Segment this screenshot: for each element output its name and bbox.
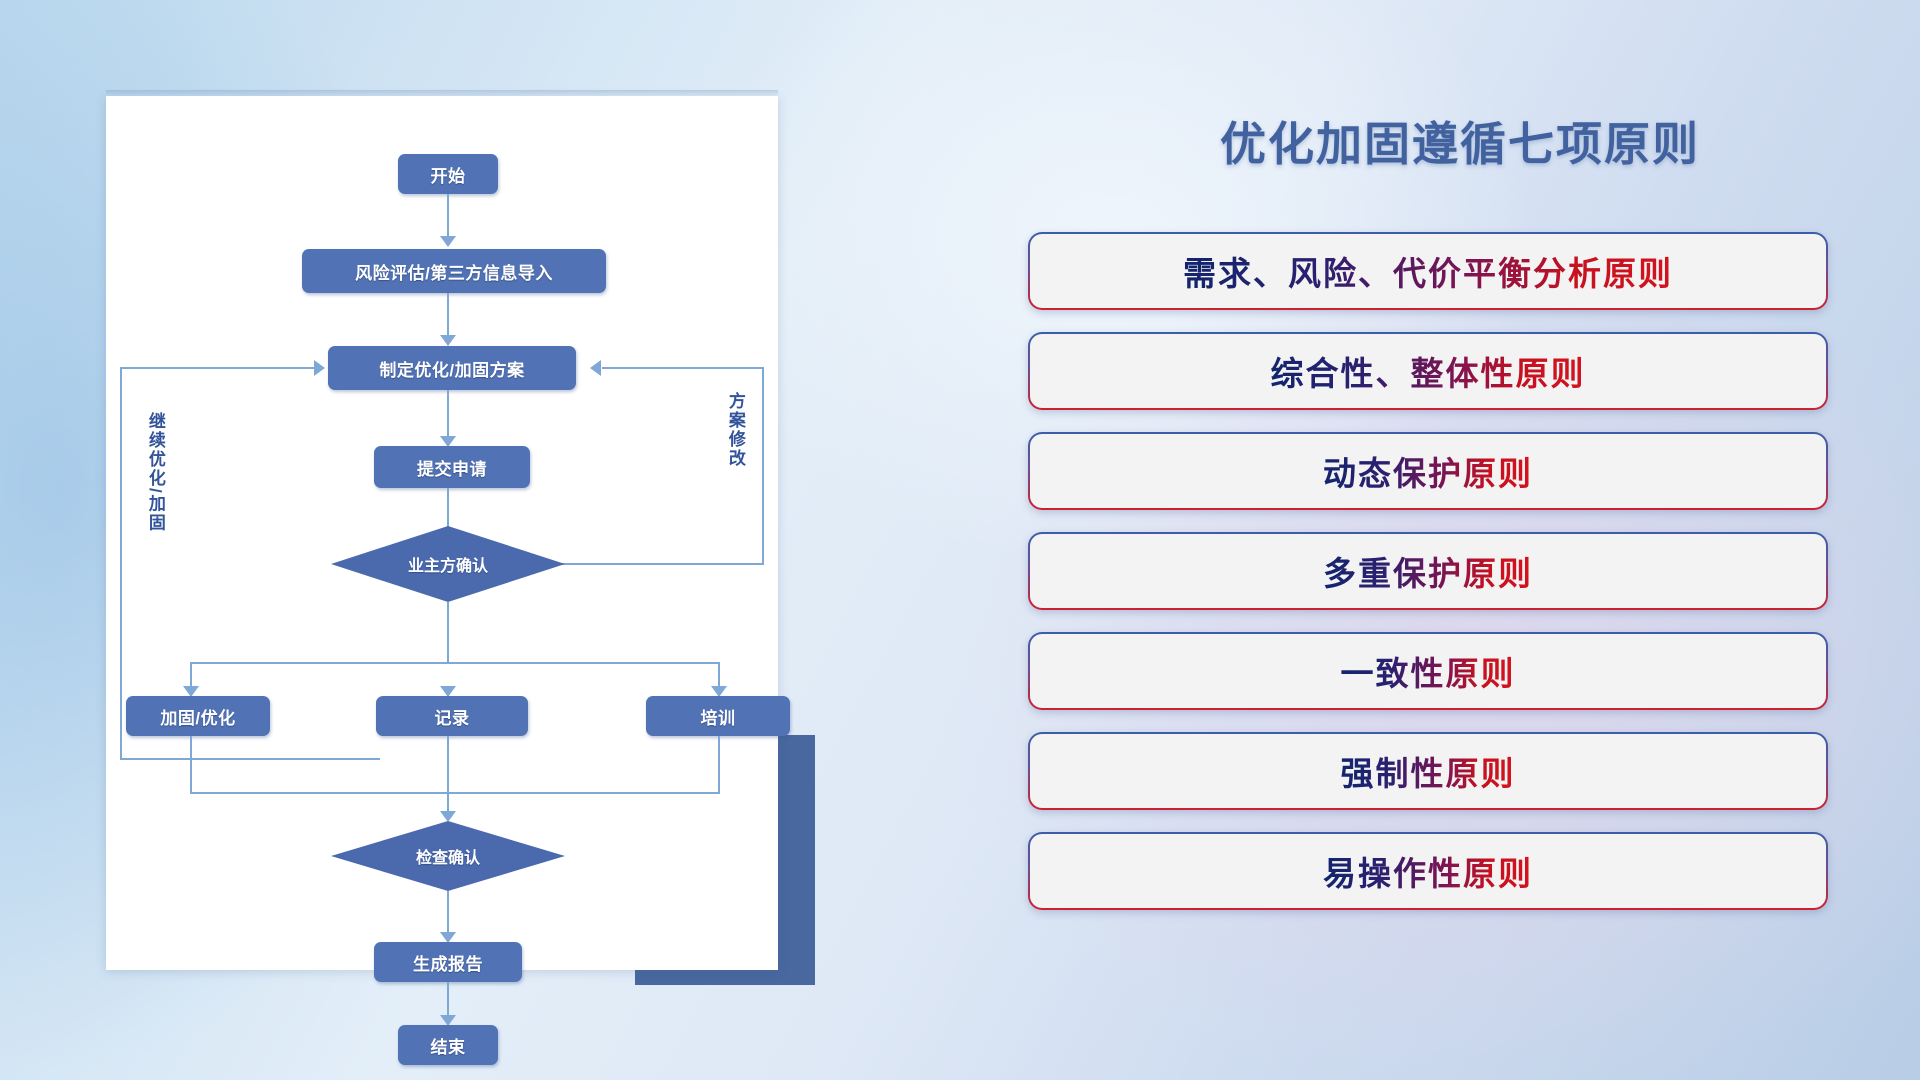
principle-item-2-inner: 综合性、整体性原则: [1030, 334, 1826, 408]
edge-start-to-risk: [447, 194, 449, 239]
principle-item-2[interactable]: 综合性、整体性原则: [1028, 332, 1828, 410]
edge-report-to-end: [447, 982, 449, 1018]
principle-item-3-label: 动态保护原则: [1323, 447, 1533, 495]
arrow-risk-to-plan: [440, 335, 456, 346]
edge-loop-right-from-owner: [558, 563, 764, 565]
flow-node-submit-application[interactable]: 提交申请: [374, 446, 530, 488]
principle-item-5-inner: 一致性原则: [1030, 634, 1826, 708]
principle-item-6-inner: 强制性原则: [1030, 734, 1826, 808]
edge-loop-right-into-plan: [602, 367, 764, 369]
flow-node-training[interactable]: 培训: [646, 696, 790, 736]
edge-loop-right-vertical: [762, 367, 764, 565]
flow-node-risk-assessment[interactable]: 风险评估/第三方信息导入: [302, 249, 606, 293]
flow-decision-check-confirm[interactable]: 检查确认: [331, 821, 565, 891]
principle-item-3-inner: 动态保护原则: [1030, 434, 1826, 508]
principle-item-4[interactable]: 多重保护原则: [1028, 532, 1828, 610]
edge-branch-merge: [190, 792, 720, 794]
edge-loop-left-into-plan: [120, 367, 316, 369]
principles-panel: 优化加固遵循七项原则 需求、风险、代价平衡分析原则 综合性、整体性原则 动态保护…: [1000, 0, 1920, 1080]
principle-item-6-label: 强制性原则: [1341, 747, 1516, 795]
edge-loop-left-bottom: [120, 758, 380, 760]
arrow-loop-right-into-plan: [590, 360, 601, 376]
principle-item-6[interactable]: 强制性原则: [1028, 732, 1828, 810]
flowchart-stage: 开始 风险评估/第三方信息导入 制定优化/加固方案 继续优化/加固 方案修改: [106, 96, 778, 970]
edge-record-to-check: [447, 736, 449, 816]
flow-node-reinforce-optimize[interactable]: 加固/优化: [126, 696, 270, 736]
flow-node-generate-report[interactable]: 生成报告: [374, 942, 522, 982]
principle-item-3[interactable]: 动态保护原则: [1028, 432, 1828, 510]
edge-label-continue-optimize: 继续优化/加固: [146, 412, 164, 533]
arrow-to-check-confirm: [440, 811, 456, 822]
flow-node-record[interactable]: 记录: [376, 696, 528, 736]
principle-item-7-label: 易操作性原则: [1323, 847, 1533, 895]
flow-decision-owner-confirm[interactable]: 业主方确认: [331, 526, 565, 602]
edge-reinforce-down: [190, 736, 192, 794]
flow-node-start[interactable]: 开始: [398, 154, 498, 194]
edge-plan-to-submit: [447, 390, 449, 438]
principles-list: 需求、风险、代价平衡分析原则 综合性、整体性原则 动态保护原则 多重保护原则 一…: [1028, 232, 1828, 932]
principle-item-7[interactable]: 易操作性原则: [1028, 832, 1828, 910]
principle-item-2-label: 综合性、整体性原则: [1271, 347, 1586, 395]
edge-check-to-report: [447, 891, 449, 935]
edge-branch-split: [190, 662, 720, 664]
principle-item-7-inner: 易操作性原则: [1030, 834, 1826, 908]
principle-item-5[interactable]: 一致性原则: [1028, 632, 1828, 710]
arrow-loop-left-into-plan: [314, 360, 325, 376]
arrow-start-to-risk: [440, 236, 456, 247]
flow-node-make-plan[interactable]: 制定优化/加固方案: [328, 346, 576, 390]
principle-item-1[interactable]: 需求、风险、代价平衡分析原则: [1028, 232, 1828, 310]
principle-item-5-label: 一致性原则: [1341, 647, 1516, 695]
edge-label-plan-revision: 方案修改: [726, 392, 744, 468]
principle-item-4-label: 多重保护原则: [1323, 547, 1533, 595]
flowchart-card: 开始 风险评估/第三方信息导入 制定优化/加固方案 继续优化/加固 方案修改: [106, 96, 778, 970]
principles-title: 优化加固遵循七项原则: [1000, 108, 1920, 174]
edge-training-down: [718, 736, 720, 794]
principle-item-1-label: 需求、风险、代价平衡分析原则: [1183, 247, 1673, 295]
flow-node-end[interactable]: 结束: [398, 1025, 498, 1065]
flowchart-panel: 开始 风险评估/第三方信息导入 制定优化/加固方案 继续优化/加固 方案修改: [0, 0, 860, 1080]
edge-loop-left-vertical: [120, 367, 122, 760]
edge-risk-to-plan: [447, 293, 449, 338]
principle-item-4-inner: 多重保护原则: [1030, 534, 1826, 608]
principle-item-1-inner: 需求、风险、代价平衡分析原则: [1030, 234, 1826, 308]
edge-owner-to-branches: [447, 602, 449, 664]
